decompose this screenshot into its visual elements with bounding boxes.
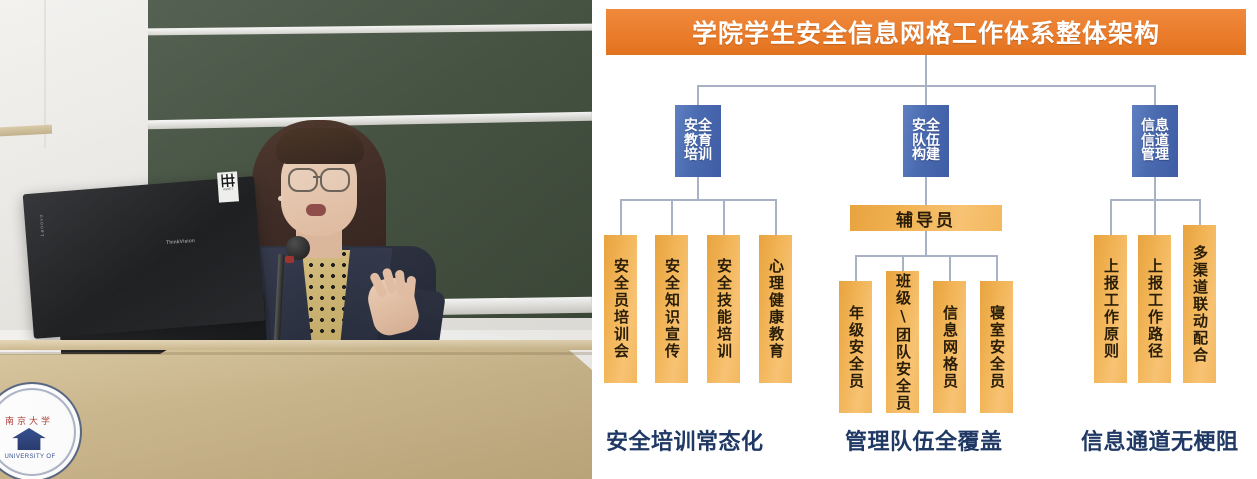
leaf-label: 上报工作路径 <box>1147 258 1162 360</box>
seal-bottom-text: UNIVERSITY OF <box>0 454 62 460</box>
connector-b1-child-4 <box>775 199 777 235</box>
connector-b2-child-2 <box>902 255 904 271</box>
connector-b2-bar <box>855 255 997 257</box>
org-chart-diagram: 学院学生安全信息网格工作体系整体架构 安全教育培训 安全队伍构建 信息信道管理 … <box>592 0 1257 479</box>
diagram-title-banner: 学院学生安全信息网格工作体系整体架构 <box>606 9 1246 55</box>
leaf-label: 信息网格员 <box>942 305 957 390</box>
wooden-podium <box>0 340 592 479</box>
seal-emblem-icon <box>10 428 48 450</box>
leaf-mental-health-education[interactable]: 心理健康教育 <box>759 235 792 383</box>
leaf-info-grid-member[interactable]: 信息网格员 <box>933 281 966 413</box>
lecture-photo: ThinkVision Lenovo ASSET 南京大学 UNIVERSITY… <box>0 0 592 479</box>
leaf-report-work-path[interactable]: 上报工作路径 <box>1138 235 1171 383</box>
microphone-ring <box>285 256 294 263</box>
caption-branch-2: 管理队伍全覆盖 <box>845 424 1003 456</box>
leaf-multichannel-coordination[interactable]: 多渠道联动配合 <box>1183 225 1216 383</box>
caption-branch-3: 信息通道无梗阻 <box>1081 424 1239 456</box>
branch-head-label: 安全教育培训 <box>684 119 712 162</box>
seal-arc-text: 南京大学 <box>0 414 58 428</box>
slide-screenshot: ThinkVision Lenovo ASSET 南京大学 UNIVERSITY… <box>0 0 1257 479</box>
caption-branch-1: 安全培训常态化 <box>606 424 764 456</box>
branch-head-label: 安全队伍构建 <box>912 119 940 162</box>
leaf-dorm-safety-officer[interactable]: 寝室安全员 <box>980 281 1013 413</box>
connector-to-branch-2 <box>925 85 927 105</box>
connector-b2-child-3 <box>949 255 951 281</box>
connector-b1-child-2 <box>671 199 673 235</box>
connector-root-trunk <box>925 55 927 85</box>
connector-b3-child-1 <box>1110 199 1112 235</box>
connector-b1-bar <box>620 199 775 201</box>
node-counselor[interactable]: 辅导员 <box>850 205 1002 231</box>
branch-head-safety-team[interactable]: 安全队伍构建 <box>903 105 949 177</box>
connector-to-branch-3 <box>1154 85 1156 105</box>
diagram-title-text: 学院学生安全信息网格工作体系整体架构 <box>692 14 1160 50</box>
eyeglasses-left-lens <box>288 168 318 192</box>
connector-b1-child-3 <box>723 199 725 235</box>
leaf-label: 寝室安全员 <box>989 305 1004 390</box>
connector-b2-mid-trunk <box>925 231 927 255</box>
leaf-label: 班级\团队安全员 <box>895 273 910 412</box>
leaf-label: 安全员培训会 <box>613 258 628 360</box>
connector-b2-child-1 <box>855 255 857 281</box>
leaf-label: 上报工作原则 <box>1103 258 1118 360</box>
connector-b3-trunk <box>1154 177 1156 199</box>
node-label: 辅导员 <box>896 206 956 231</box>
leaf-safety-knowledge-promotion[interactable]: 安全知识宣传 <box>655 235 688 383</box>
podium-edge <box>0 352 592 355</box>
leaf-safety-officer-training[interactable]: 安全员培训会 <box>604 235 637 383</box>
branch-head-info-channel[interactable]: 信息信道管理 <box>1132 105 1178 177</box>
leaf-class-team-safety-officer[interactable]: 班级\团队安全员 <box>886 271 919 413</box>
podium-lip <box>0 340 592 350</box>
speaker-mouth <box>306 204 326 216</box>
speaker-earring <box>278 196 283 201</box>
leaf-label: 年级安全员 <box>848 305 863 390</box>
connector-b3-child-3 <box>1199 199 1201 225</box>
leaf-report-work-principles[interactable]: 上报工作原则 <box>1094 235 1127 383</box>
qr-code-sticker: ASSET <box>217 171 239 202</box>
leaf-label: 心理健康教育 <box>768 258 783 360</box>
eyeglasses-bridge <box>313 176 321 178</box>
connector-b2-child-4 <box>996 255 998 281</box>
connector-to-branch-1 <box>697 85 699 105</box>
leaf-label: 安全技能培训 <box>716 258 731 360</box>
connector-b2-trunk <box>925 177 927 205</box>
eyeglasses-right-lens <box>320 168 350 192</box>
leaf-label: 安全知识宣传 <box>664 258 679 360</box>
connector-b1-child-1 <box>620 199 622 235</box>
seal-inner: 南京大学 UNIVERSITY OF <box>0 414 62 454</box>
connector-b3-child-2 <box>1154 199 1156 235</box>
connector-b1-trunk <box>697 177 699 199</box>
leaf-grade-safety-officer[interactable]: 年级安全员 <box>839 281 872 413</box>
leaf-label: 多渠道联动配合 <box>1192 245 1207 364</box>
leaf-safety-skills-training[interactable]: 安全技能培训 <box>707 235 740 383</box>
branch-head-label: 信息信道管理 <box>1141 119 1169 162</box>
branch-head-safety-education[interactable]: 安全教育培训 <box>675 105 721 177</box>
speaker-fringe <box>276 128 364 164</box>
